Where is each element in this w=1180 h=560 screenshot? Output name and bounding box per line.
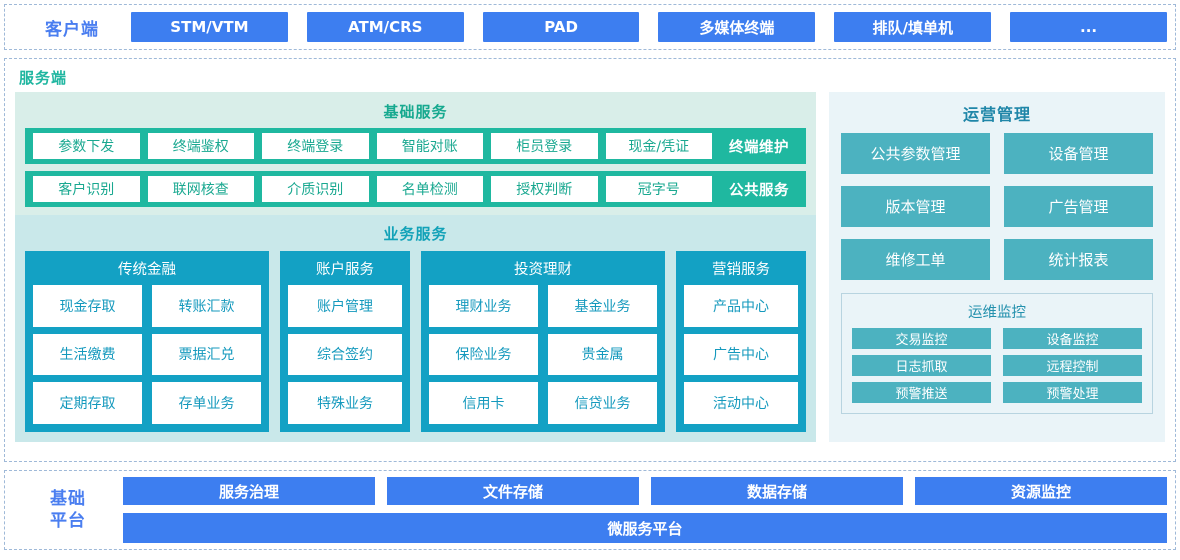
monitoring-item-alert-handling[interactable]: 预警处理 (1003, 382, 1142, 403)
basic-service-media-recognition[interactable]: 介质识别 (262, 176, 369, 202)
basic-service-cash-voucher[interactable]: 现金/凭证 (606, 133, 713, 159)
monitoring-item-alert-push[interactable]: 预警推送 (852, 382, 991, 403)
business-item-certificate-deposit[interactable]: 存单业务 (152, 382, 261, 424)
basic-services-panel: 基础服务 参数下发 终端鉴权 终端登录 智能对账 柜员登录 现金/凭证 终端维护… (15, 92, 816, 215)
client-layer: 客户端 STM/VTM ATM/CRS PAD 多媒体终端 排队/填单机 ... (4, 4, 1176, 50)
business-group-traditional-finance: 传统金融 现金存取 转账汇款 生活缴费 票据汇兑 定期存取 存单业务 (25, 251, 269, 432)
business-group-title-marketing-service: 营销服务 (684, 256, 798, 285)
business-item-fund-business[interactable]: 基金业务 (548, 285, 657, 327)
operations-item-repair-work-order[interactable]: 维修工单 (841, 239, 990, 280)
business-item-insurance-business[interactable]: 保险业务 (429, 334, 538, 376)
basic-service-authorization-judgement[interactable]: 授权判断 (491, 176, 598, 202)
operations-item-version-management[interactable]: 版本管理 (841, 186, 990, 227)
platform-item-resource-monitoring[interactable]: 资源监控 (915, 477, 1167, 505)
architecture-diagram: 客户端 STM/VTM ATM/CRS PAD 多媒体终端 排队/填单机 ...… (0, 0, 1180, 560)
business-item-cash-deposit-withdrawal[interactable]: 现金存取 (33, 285, 142, 327)
operations-item-statistical-report[interactable]: 统计报表 (1004, 239, 1153, 280)
monitoring-item-log-capture[interactable]: 日志抓取 (852, 355, 991, 376)
business-item-account-management[interactable]: 账户管理 (288, 285, 402, 327)
client-items: STM/VTM ATM/CRS PAD 多媒体终端 排队/填单机 ... (131, 12, 1167, 42)
operations-management-title: 运营管理 (841, 98, 1153, 133)
basic-service-smart-reconciliation[interactable]: 智能对账 (377, 133, 484, 159)
business-group-items-traditional-finance: 现金存取 转账汇款 生活缴费 票据汇兑 定期存取 存单业务 (33, 285, 261, 424)
operations-item-public-parameter-management[interactable]: 公共参数管理 (841, 133, 990, 174)
basic-service-teller-login[interactable]: 柜员登录 (491, 133, 598, 159)
operations-monitoring-title: 运维监控 (852, 299, 1142, 328)
basic-service-online-verification[interactable]: 联网核查 (148, 176, 255, 202)
monitoring-item-device-monitoring[interactable]: 设备监控 (1003, 328, 1142, 349)
client-item-more[interactable]: ... (1010, 12, 1167, 42)
basic-service-terminal-login[interactable]: 终端登录 (262, 133, 369, 159)
platform-layer-label-line2: 平台 (13, 510, 123, 532)
business-group-title-traditional-finance: 传统金融 (33, 256, 261, 285)
business-group-account-service: 账户服务 账户管理 综合签约 特殊业务 (280, 251, 410, 432)
client-item-multimedia-terminal[interactable]: 多媒体终端 (658, 12, 815, 42)
business-services-columns: 传统金融 现金存取 转账汇款 生活缴费 票据汇兑 定期存取 存单业务 (25, 251, 806, 432)
monitoring-item-remote-control[interactable]: 远程控制 (1003, 355, 1142, 376)
business-item-product-center[interactable]: 产品中心 (684, 285, 798, 327)
basic-services-row-terminal-maintenance: 参数下发 终端鉴权 终端登录 智能对账 柜员登录 现金/凭证 终端维护 (25, 128, 806, 164)
platform-item-data-storage[interactable]: 数据存储 (651, 477, 903, 505)
platform-layer-label: 基础 平台 (13, 488, 123, 532)
business-item-activity-center[interactable]: 活动中心 (684, 382, 798, 424)
business-item-advertising-center[interactable]: 广告中心 (684, 334, 798, 376)
business-services-panel: 业务服务 传统金融 现金存取 转账汇款 生活缴费 票据汇兑 定期存取 存单业务 (15, 215, 816, 442)
platform-item-service-governance[interactable]: 服务治理 (123, 477, 375, 505)
business-group-marketing-service: 营销服务 产品中心 广告中心 活动中心 (676, 251, 806, 432)
basic-service-list-check[interactable]: 名单检测 (377, 176, 484, 202)
basic-service-terminal-auth[interactable]: 终端鉴权 (148, 133, 255, 159)
operations-monitoring-grid: 交易监控 设备监控 日志抓取 远程控制 预警推送 预警处理 (852, 328, 1142, 403)
business-services-title: 业务服务 (25, 219, 806, 251)
client-layer-label: 客户端 (13, 15, 131, 40)
client-item-pad[interactable]: PAD (483, 12, 640, 42)
basic-service-customer-identification[interactable]: 客户识别 (33, 176, 140, 202)
server-columns: 基础服务 参数下发 终端鉴权 终端登录 智能对账 柜员登录 现金/凭证 终端维护… (15, 92, 1165, 442)
platform-item-microservice-platform[interactable]: 微服务平台 (123, 513, 1167, 543)
basic-services-title: 基础服务 (25, 98, 806, 128)
platform-item-file-storage[interactable]: 文件存储 (387, 477, 639, 505)
business-item-wealth-management[interactable]: 理财业务 (429, 285, 538, 327)
operations-item-advertising-management[interactable]: 广告管理 (1004, 186, 1153, 227)
business-group-title-investment-wealth: 投资理财 (429, 256, 657, 285)
basic-service-serial-number[interactable]: 冠字号 (606, 176, 713, 202)
monitoring-item-transaction-monitoring[interactable]: 交易监控 (852, 328, 991, 349)
business-item-credit-card[interactable]: 信用卡 (429, 382, 538, 424)
business-item-special-business[interactable]: 特殊业务 (288, 382, 402, 424)
basic-services-row-tag-public-service: 公共服务 (720, 179, 798, 200)
platform-items: 服务治理 文件存储 数据存储 资源监控 微服务平台 (123, 477, 1167, 543)
client-item-queue-form-machine[interactable]: 排队/填单机 (834, 12, 991, 42)
operations-management-panel: 运营管理 公共参数管理 设备管理 版本管理 广告管理 维修工单 统计报表 运维监… (829, 92, 1165, 442)
business-item-comprehensive-signing[interactable]: 综合签约 (288, 334, 402, 376)
business-item-credit-business[interactable]: 信贷业务 (548, 382, 657, 424)
business-group-title-account-service: 账户服务 (288, 256, 402, 285)
business-item-time-deposit[interactable]: 定期存取 (33, 382, 142, 424)
business-group-items-account-service: 账户管理 综合签约 特殊业务 (288, 285, 402, 424)
business-item-bill-exchange[interactable]: 票据汇兑 (152, 334, 261, 376)
server-layer-label: 服务端 (19, 67, 1165, 88)
server-left-column: 基础服务 参数下发 终端鉴权 终端登录 智能对账 柜员登录 现金/凭证 终端维护… (15, 92, 816, 442)
business-group-items-investment-wealth: 理财业务 基金业务 保险业务 贵金属 信用卡 信贷业务 (429, 285, 657, 424)
operations-item-device-management[interactable]: 设备管理 (1004, 133, 1153, 174)
platform-layer: 基础 平台 服务治理 文件存储 数据存储 资源监控 微服务平台 (4, 470, 1176, 550)
client-item-atm-crs[interactable]: ATM/CRS (307, 12, 464, 42)
operations-management-grid: 公共参数管理 设备管理 版本管理 广告管理 维修工单 统计报表 (841, 133, 1153, 280)
basic-services-row-tag-terminal-maintenance: 终端维护 (720, 136, 798, 157)
platform-row: 服务治理 文件存储 数据存储 资源监控 (123, 477, 1167, 505)
business-item-living-payment[interactable]: 生活缴费 (33, 334, 142, 376)
basic-services-row-public-service: 客户识别 联网核查 介质识别 名单检测 授权判断 冠字号 公共服务 (25, 171, 806, 207)
basic-service-param-dispatch[interactable]: 参数下发 (33, 133, 140, 159)
server-layer: 服务端 基础服务 参数下发 终端鉴权 终端登录 智能对账 柜员登录 现金/凭证 … (4, 58, 1176, 462)
business-item-precious-metals[interactable]: 贵金属 (548, 334, 657, 376)
business-item-transfer-remittance[interactable]: 转账汇款 (152, 285, 261, 327)
operations-monitoring-panel: 运维监控 交易监控 设备监控 日志抓取 远程控制 预警推送 预警处理 (841, 293, 1153, 414)
business-group-investment-wealth: 投资理财 理财业务 基金业务 保险业务 贵金属 信用卡 信贷业务 (421, 251, 665, 432)
platform-layer-label-line1: 基础 (13, 488, 123, 510)
business-group-items-marketing-service: 产品中心 广告中心 活动中心 (684, 285, 798, 424)
client-item-stm-vtm[interactable]: STM/VTM (131, 12, 288, 42)
